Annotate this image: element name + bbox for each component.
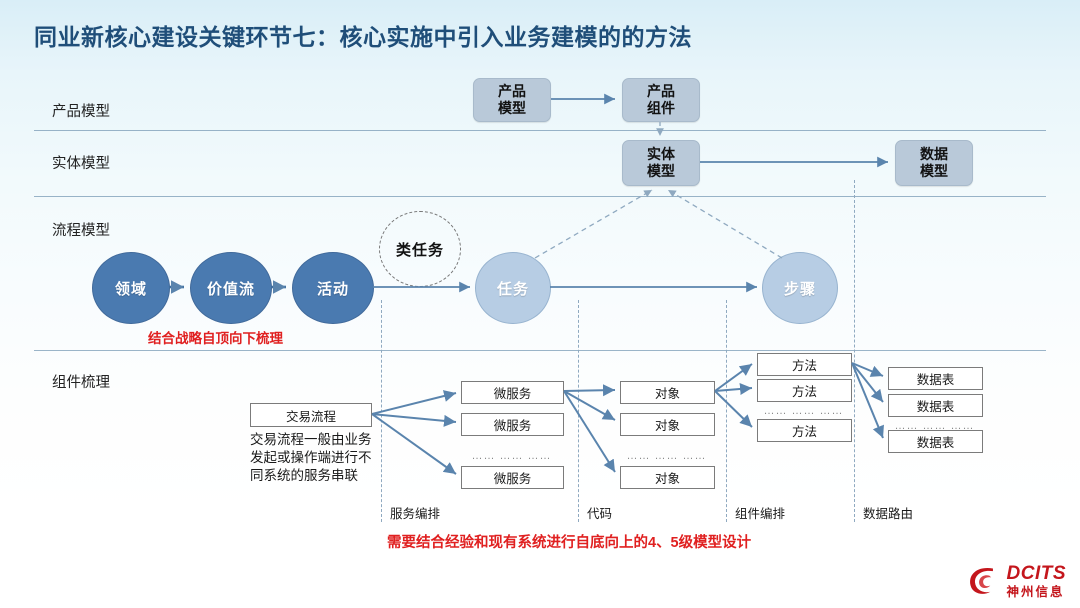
box-object-1[interactable]: 对象 (620, 381, 715, 404)
arrow-microservice-to-object-1 (564, 390, 615, 391)
box-entity-model-line1: 实体 (647, 146, 675, 163)
box-data-table-3[interactable]: 数据表 (888, 430, 983, 453)
arrow-tradeflow-to-microservice-1 (372, 393, 456, 414)
row-separator-3 (34, 350, 1046, 351)
column-caption-service-orchestration: 服务编排 (390, 503, 440, 522)
box-microservice-2[interactable]: 微服务 (461, 413, 564, 436)
arrow-method-to-data-table-2 (852, 363, 883, 402)
box-product-component-line1: 产品 (647, 83, 675, 100)
dcits-logo-mark (966, 564, 1002, 598)
column-divider-4 (854, 180, 855, 522)
row-label-entity-model: 实体模型 (52, 152, 110, 173)
arrow-task-to-entity-model (535, 190, 652, 258)
circle-value-stream[interactable]: 价值流 (190, 252, 272, 324)
dcits-logo-cn: 神州信息 (1007, 586, 1067, 599)
circle-step[interactable]: 步骤 (762, 252, 838, 324)
box-microservice-3[interactable]: 微服务 (461, 466, 564, 489)
box-data-model[interactable]: 数据 模型 (895, 140, 973, 186)
arrow-object-to-method-1 (715, 364, 752, 391)
microservice-ellipsis: …… …… …… (461, 450, 562, 462)
arrow-microservice-to-object-3 (564, 391, 615, 472)
dcits-logo-text: DCITS 神州信息 (1007, 564, 1067, 599)
column-caption-component-orchestration: 组件编排 (735, 503, 785, 522)
column-caption-code: 代码 (587, 503, 612, 522)
box-product-component-line2: 组件 (647, 100, 675, 117)
circle-task[interactable]: 任务 (475, 252, 551, 324)
arrow-object-to-method-3 (715, 391, 752, 427)
annotation-bottom-red: 需要结合经验和现有系统进行自底向上的4、5级模型设计 (387, 531, 751, 552)
column-divider-3 (726, 300, 727, 522)
arrow-tradeflow-to-microservice-2 (372, 414, 456, 422)
circle-domain[interactable]: 领域 (92, 252, 170, 324)
row-separator-1 (34, 130, 1046, 131)
circle-class-task[interactable]: 类任务 (379, 211, 461, 287)
trade-flow-description: 交易流程一般由业务发起或操作端进行不同系统的服务串联 (250, 431, 375, 485)
annotation-top-red: 结合战略自顶向下梳理 (148, 327, 283, 347)
arrow-object-to-method-2 (715, 388, 752, 391)
column-divider-2 (578, 300, 579, 522)
arrow-tradeflow-to-microservice-3 (372, 414, 456, 474)
box-data-table-1[interactable]: 数据表 (888, 367, 983, 390)
circle-activity[interactable]: 活动 (292, 252, 374, 324)
row-separator-2 (34, 196, 1046, 197)
column-caption-data-routing: 数据路由 (863, 503, 913, 522)
box-object-2[interactable]: 对象 (620, 413, 715, 436)
box-method-2[interactable]: 方法 (757, 379, 852, 402)
box-microservice-1[interactable]: 微服务 (461, 381, 564, 404)
box-product-model-line1: 产品 (498, 83, 526, 100)
box-trade-flow[interactable]: 交易流程 (250, 403, 372, 427)
box-entity-model[interactable]: 实体 模型 (622, 140, 700, 186)
box-product-model[interactable]: 产品 模型 (473, 78, 551, 122)
box-object-3[interactable]: 对象 (620, 466, 715, 489)
row-label-component-sorting: 组件梳理 (52, 371, 110, 392)
arrow-microservice-to-object-2 (564, 391, 615, 420)
arrow-step-to-entity-model (668, 190, 782, 258)
method-ellipsis: …… …… …… (757, 405, 850, 417)
arrow-method-to-data-table-1 (852, 363, 883, 376)
object-ellipsis: …… …… …… (620, 450, 713, 462)
box-method-3[interactable]: 方法 (757, 419, 852, 442)
row-label-process-model: 流程模型 (52, 219, 110, 240)
row-label-product-model: 产品模型 (52, 100, 110, 121)
box-method-1[interactable]: 方法 (757, 353, 852, 376)
box-data-table-2[interactable]: 数据表 (888, 394, 983, 417)
box-data-model-line2: 模型 (920, 163, 948, 180)
box-product-component[interactable]: 产品 组件 (622, 78, 700, 122)
arrow-method-to-data-table-3 (852, 363, 883, 438)
box-data-model-line1: 数据 (920, 146, 948, 163)
column-divider-1 (381, 300, 382, 522)
box-product-model-line2: 模型 (498, 100, 526, 117)
dcits-logo-en: DCITS (1007, 564, 1067, 583)
dcits-logo: DCITS 神州信息 (966, 564, 1067, 599)
box-entity-model-line2: 模型 (647, 163, 675, 180)
page-title: 同业新核心建设关键环节七：核心实施中引入业务建模的的方法 (34, 18, 692, 52)
